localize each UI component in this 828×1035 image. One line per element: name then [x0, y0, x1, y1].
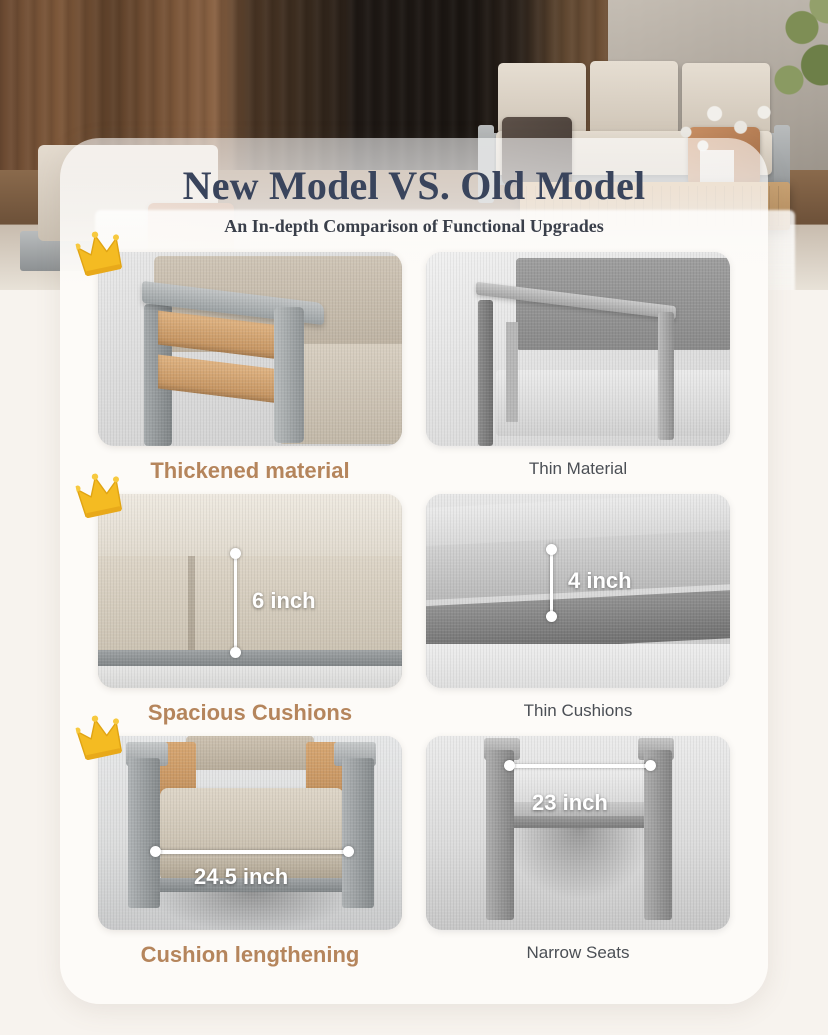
product-photo-new: 6 inch — [98, 494, 402, 688]
measurement-label-new: 24.5 inch — [194, 864, 288, 890]
old-model-cell: 23 inch Narrow Seats — [426, 736, 730, 961]
caption-new: Spacious Cushions — [98, 702, 402, 724]
measurement-label-old: 23 inch — [532, 790, 608, 816]
page-subtitle: An In-depth Comparison of Functional Upg… — [60, 216, 768, 237]
measurement-label-old: 4 inch — [568, 568, 632, 594]
product-photo-new — [98, 252, 402, 446]
measurement-label-new: 6 inch — [252, 588, 316, 614]
measurement-callout-new: 24.5 inch — [156, 850, 348, 854]
new-model-cell: 24.5 inch Cushion lengthening — [98, 736, 402, 966]
comparison-row: Thickened material Thin Material — [98, 252, 730, 494]
product-photo-new: 24.5 inch — [98, 736, 402, 930]
new-model-cell: 6 inch Spacious Cushions — [98, 494, 402, 724]
caption-old: Thin Material — [426, 460, 730, 477]
page-title: New Model VS. Old Model — [60, 162, 768, 209]
comparison-panel: New Model VS. Old Model An In-depth Comp… — [60, 138, 768, 1004]
caption-old: Narrow Seats — [426, 944, 730, 961]
comparison-row: 24.5 inch Cushion lengthening — [98, 736, 730, 978]
measurement-callout-old: 23 inch — [510, 764, 650, 768]
product-photo-old: 23 inch — [426, 736, 730, 930]
measurement-callout-new: 6 inch — [234, 554, 237, 652]
new-model-cell: Thickened material — [98, 252, 402, 482]
caption-new: Cushion lengthening — [98, 944, 402, 966]
comparison-row: 6 inch Spacious Cushions — [98, 494, 730, 736]
measurement-callout-old: 4 inch — [550, 550, 553, 616]
product-photo-old: 4 inch — [426, 494, 730, 688]
caption-old: Thin Cushions — [426, 702, 730, 719]
caption-new: Thickened material — [98, 460, 402, 482]
old-model-cell: 4 inch Thin Cushions — [426, 494, 730, 719]
comparison-grid: Thickened material Thin Material — [98, 252, 730, 978]
old-model-cell: Thin Material — [426, 252, 730, 477]
product-photo-old — [426, 252, 730, 446]
